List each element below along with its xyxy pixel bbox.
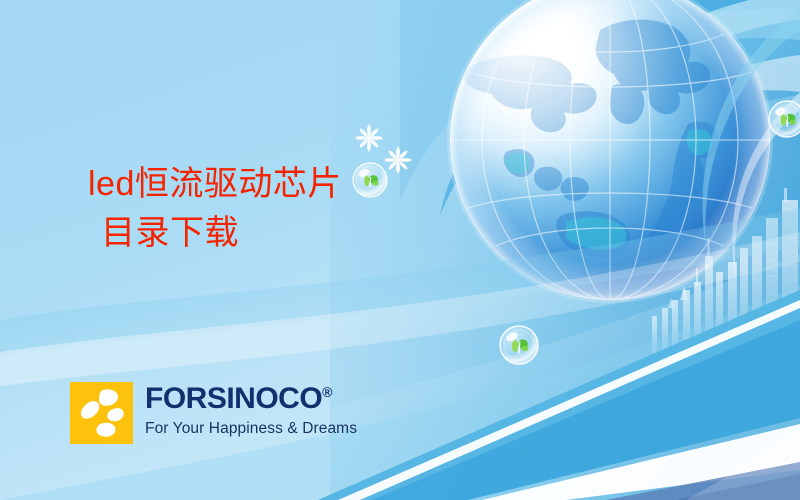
bubble-sprout-lower-middle — [500, 326, 538, 364]
logo-wordmark-text: FORSINOCO — [145, 382, 322, 415]
title-line-1: led恒流驱动芯片 — [88, 160, 428, 209]
bubble-sprout-right-edge — [769, 101, 800, 137]
page-title: led恒流驱动芯片 目录下载 — [88, 160, 428, 259]
registered-trademark-icon: ® — [322, 384, 332, 400]
slide-canvas: led恒流驱动芯片 目录下载 FORSINOCO® For Your Happi… — [0, 0, 800, 500]
title-latin-prefix: led — [88, 165, 135, 203]
title-line-2: 目录下载 — [88, 209, 428, 258]
logo-wordmark-block: FORSINOCO® For Your Happiness & Dreams — [145, 382, 357, 437]
title-cjk-suffix: 恒流驱动芯片 — [135, 166, 342, 203]
logo-tagline: For Your Happiness & Dreams — [145, 421, 357, 437]
four-petal-flower-icon — [70, 382, 133, 444]
company-logo: FORSINOCO® For Your Happiness & Dreams — [70, 382, 357, 444]
logo-wordmark: FORSINOCO® — [145, 384, 357, 414]
